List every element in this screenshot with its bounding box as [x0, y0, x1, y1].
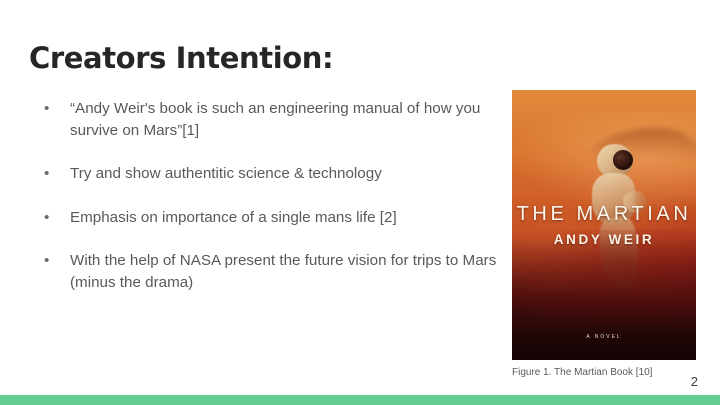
figure-martian-book: THE MARTIAN ANDY WEIR A NOVEL Figure 1. … [512, 90, 696, 378]
page-title: Creators Intention: [29, 40, 333, 76]
list-item: • “Andy Weir's book is such an engineeri… [38, 98, 500, 141]
figure-caption: Figure 1. The Martian Book [10] [512, 367, 696, 378]
bullet-marker-icon: • [44, 207, 49, 229]
bullet-marker-icon: • [44, 163, 49, 185]
bullet-marker-icon: • [44, 250, 49, 272]
book-cover-author: ANDY WEIR [512, 232, 696, 247]
list-item-text: Emphasis on importance of a single mans … [70, 207, 500, 229]
bullet-list: • “Andy Weir's book is such an engineeri… [38, 98, 500, 293]
dust-storm-gradient [512, 236, 696, 360]
list-item-text: With the help of NASA present the future… [70, 250, 500, 293]
astronaut-visor [613, 150, 633, 170]
list-item: • Emphasis on importance of a single man… [38, 207, 500, 229]
book-cover-tagline: A NOVEL [512, 334, 696, 340]
book-cover-title: THE MARTIAN [512, 203, 696, 226]
list-item: • With the help of NASA present the futu… [38, 250, 500, 293]
list-item: • Try and show authentitic science & tec… [38, 163, 500, 185]
list-item-text: Try and show authentitic science & techn… [70, 163, 500, 185]
page-number: 2 [691, 374, 698, 389]
footer-accent-bar [0, 395, 720, 405]
bullet-marker-icon: • [44, 98, 49, 120]
book-cover-image: THE MARTIAN ANDY WEIR A NOVEL [512, 90, 696, 360]
slide: Creators Intention: • “Andy Weir's book … [0, 0, 720, 405]
list-item-text: “Andy Weir's book is such an engineering… [70, 98, 500, 141]
